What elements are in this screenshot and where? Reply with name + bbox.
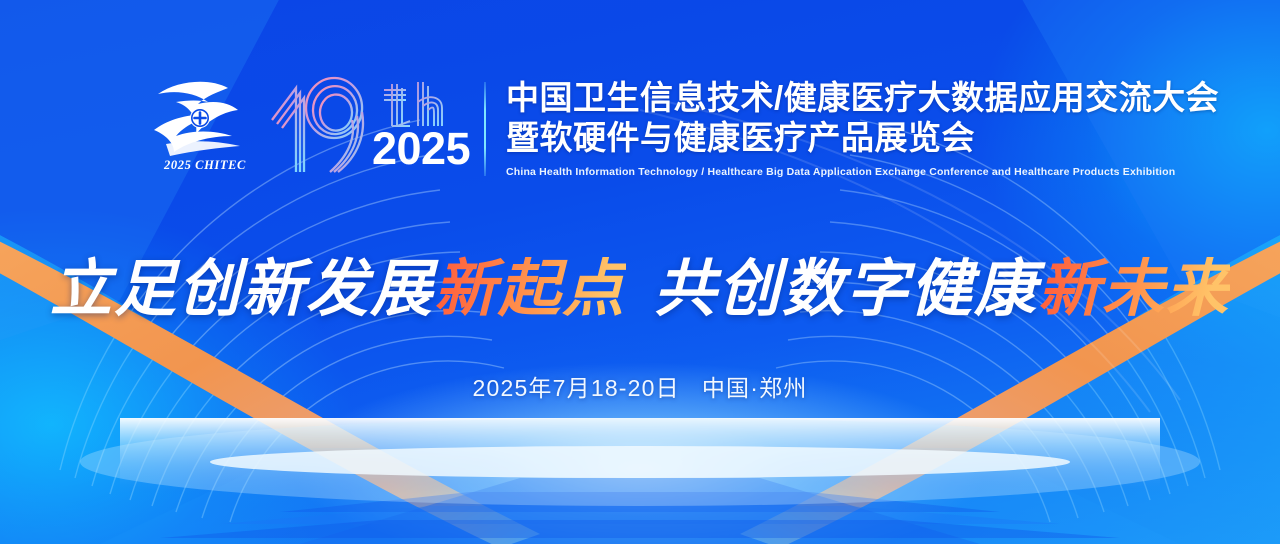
horizon-outer-glow — [80, 418, 1200, 506]
conference-banner: 2025 CHITEC — [0, 0, 1280, 544]
slogan-part2-white: 共创数字健康 — [654, 256, 1038, 324]
title-group: 中国卫生信息技术/健康医疗大数据应用交流大会 暨软硬件与健康医疗产品展览会 Ch… — [506, 78, 1219, 178]
slogan-part2-accent: 新未来 — [1038, 256, 1230, 324]
header-divider — [484, 82, 486, 176]
event-location: 中国·郑州 — [702, 375, 808, 401]
chitec-bird-cross-emblem-icon — [148, 78, 260, 158]
conference-title-line2: 暨软硬件与健康医疗产品展览会 — [506, 118, 1219, 158]
slogan-part1-accent: 新起点 — [434, 256, 626, 324]
conference-slogan: 立足创新发展新起点共创数字健康新未来 — [0, 238, 1280, 328]
slogan-part1-white: 立足创新发展 — [50, 256, 434, 324]
edition-year: 2025 — [372, 126, 470, 171]
conference-title-english: China Health Information Technology / He… — [506, 166, 1219, 178]
event-meta: 2025年7月18-20日中国·郑州 — [0, 369, 1280, 403]
chitec-logo: 2025 CHITEC — [148, 78, 260, 182]
chitec-logo-text: 2025 CHITEC — [150, 158, 260, 173]
edition-block: 2025 — [266, 78, 476, 178]
banner-header: 2025 CHITEC — [148, 78, 1219, 182]
conference-title-line1: 中国卫生信息技术/健康医疗大数据应用交流大会 — [506, 78, 1219, 118]
event-date: 2025年7月18-20日 — [472, 375, 679, 401]
